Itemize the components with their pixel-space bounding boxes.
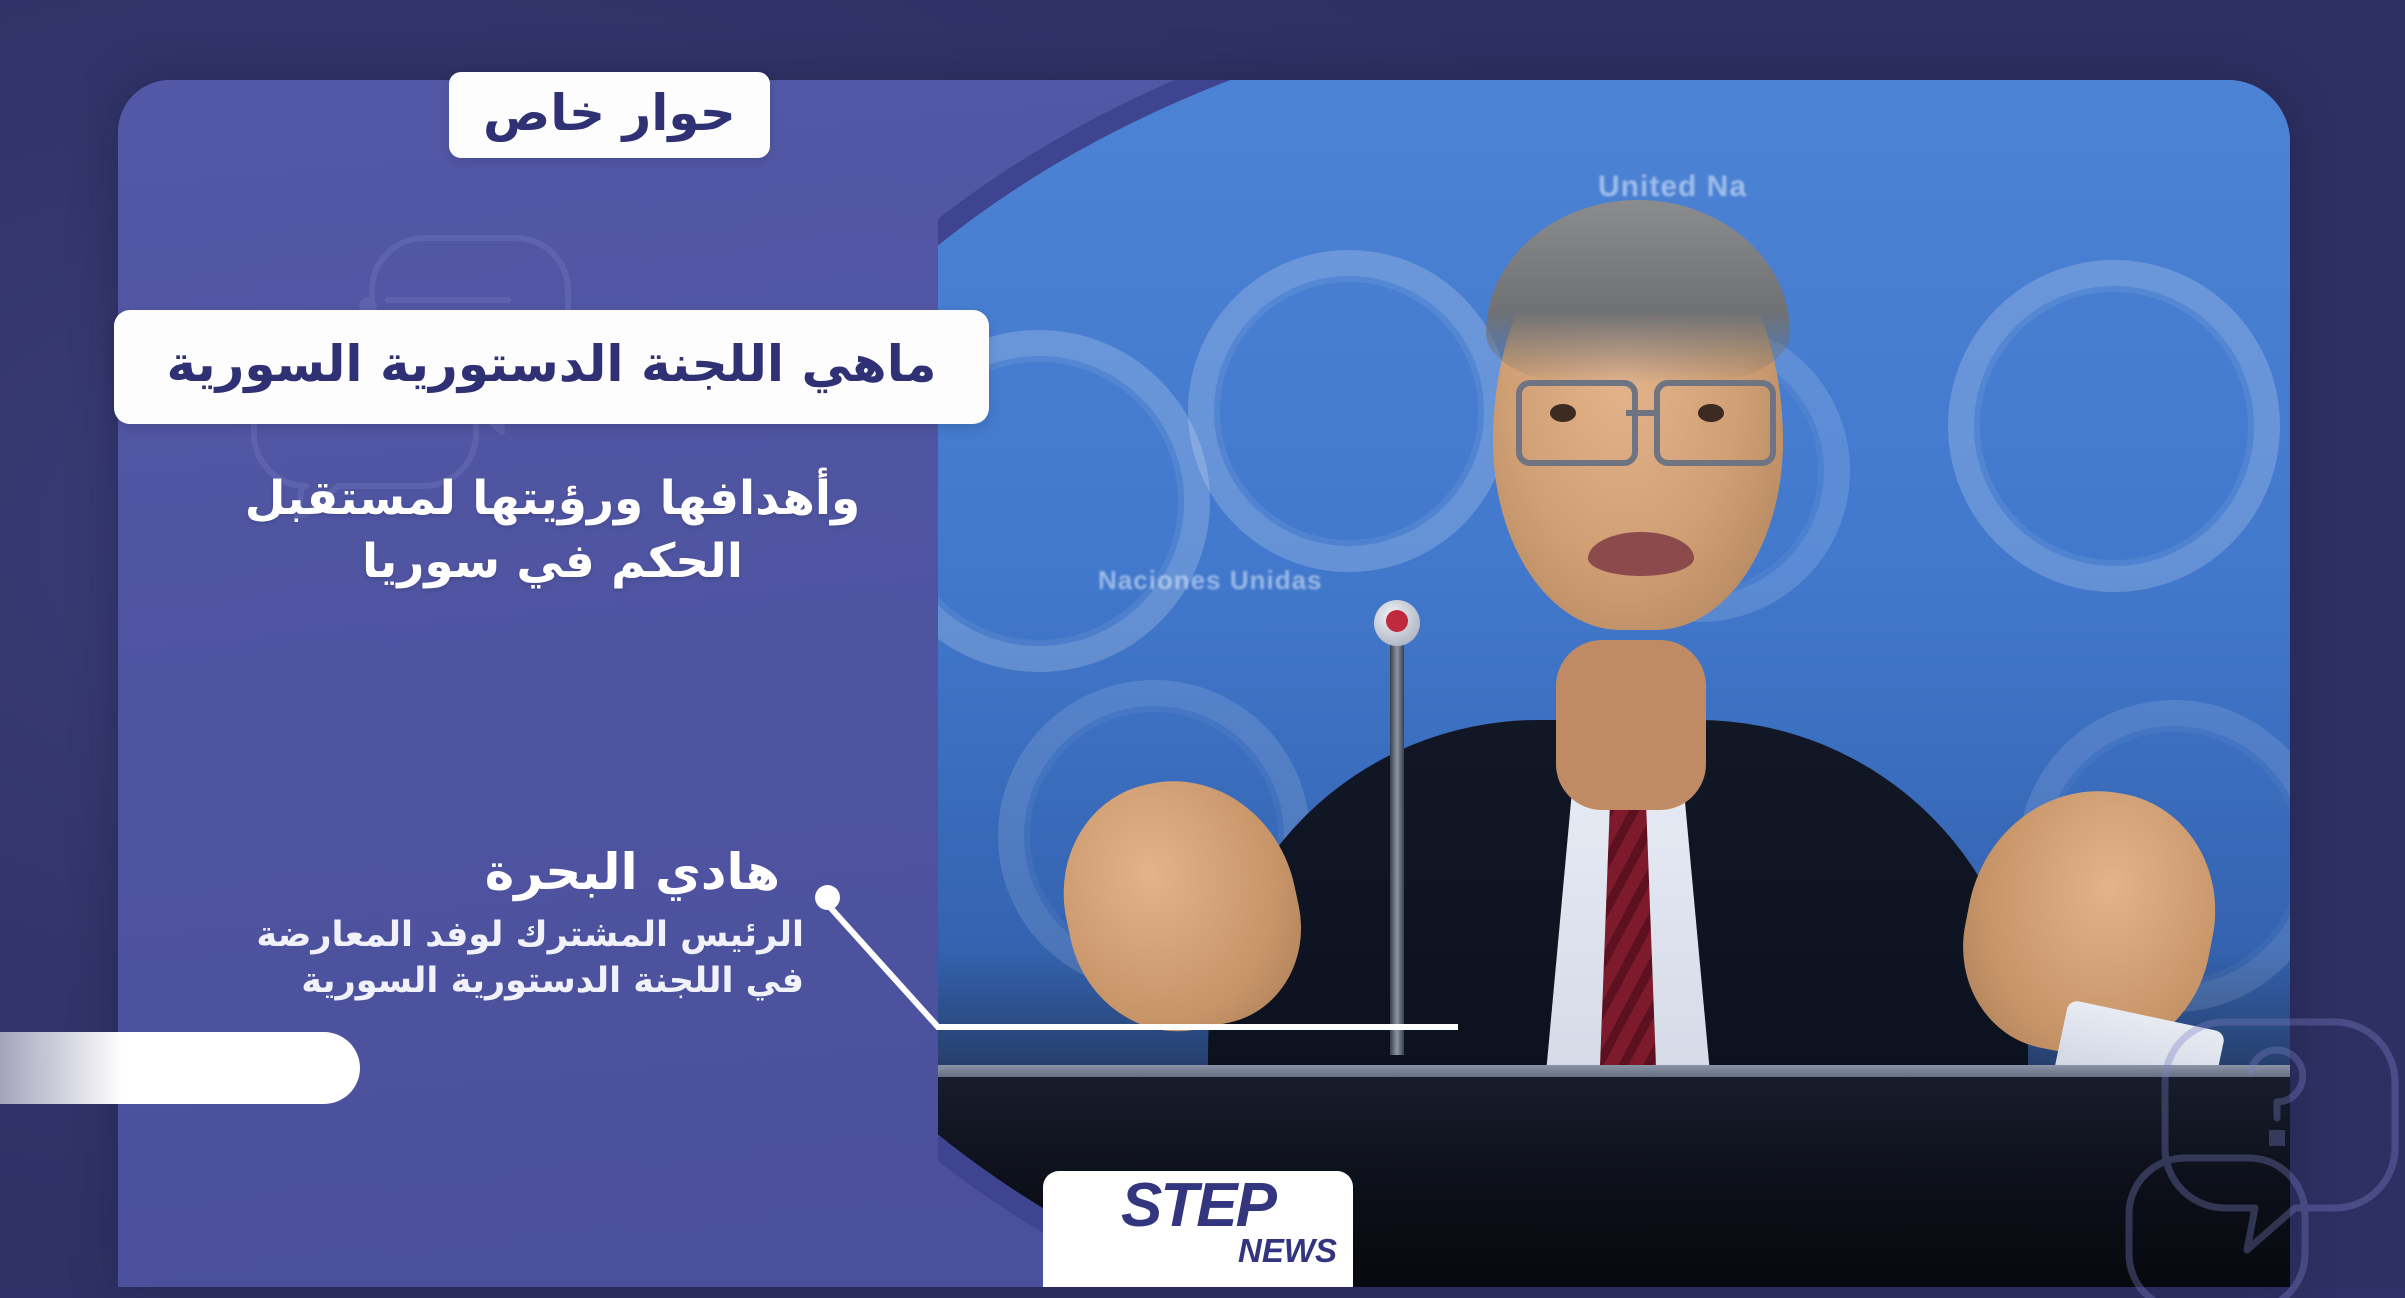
decorative-pill	[0, 1032, 360, 1104]
subheadline-line-1: وأهدافها ورؤيتها لمستقبل	[130, 468, 975, 531]
question-bubble-icon	[2075, 1008, 2405, 1298]
news-card: United Na Naciones Unidas	[118, 80, 2290, 1287]
step-news-logo: STEP NEWS	[1043, 1171, 1353, 1287]
speaker-title-line-2: في اللجنة الدستورية السورية	[120, 958, 804, 1004]
speaker-title-line-1: الرئيس المشترك لوفد المعارضة	[120, 912, 804, 958]
subheadline-line-2: الحكم في سوريا	[130, 531, 975, 594]
headline-title: ماهي اللجنة الدستورية السورية	[114, 310, 989, 424]
leader-dot	[815, 885, 840, 910]
logo-news-text: NEWS	[1238, 1232, 1337, 1270]
special-interview-badge: حوار خاص	[449, 72, 770, 158]
speaker-caption: هادي البحرة الرئيس المشترك لوفد المعارضة…	[120, 845, 810, 1004]
subheadline: وأهدافها ورؤيتها لمستقبل الحكم في سوريا	[130, 468, 975, 594]
speaker-name: هادي البحرة	[120, 845, 810, 900]
speaker-title: الرئيس المشترك لوفد المعارضة في اللجنة ا…	[120, 912, 810, 1004]
logo-step-text: STEP	[1121, 1177, 1275, 1236]
